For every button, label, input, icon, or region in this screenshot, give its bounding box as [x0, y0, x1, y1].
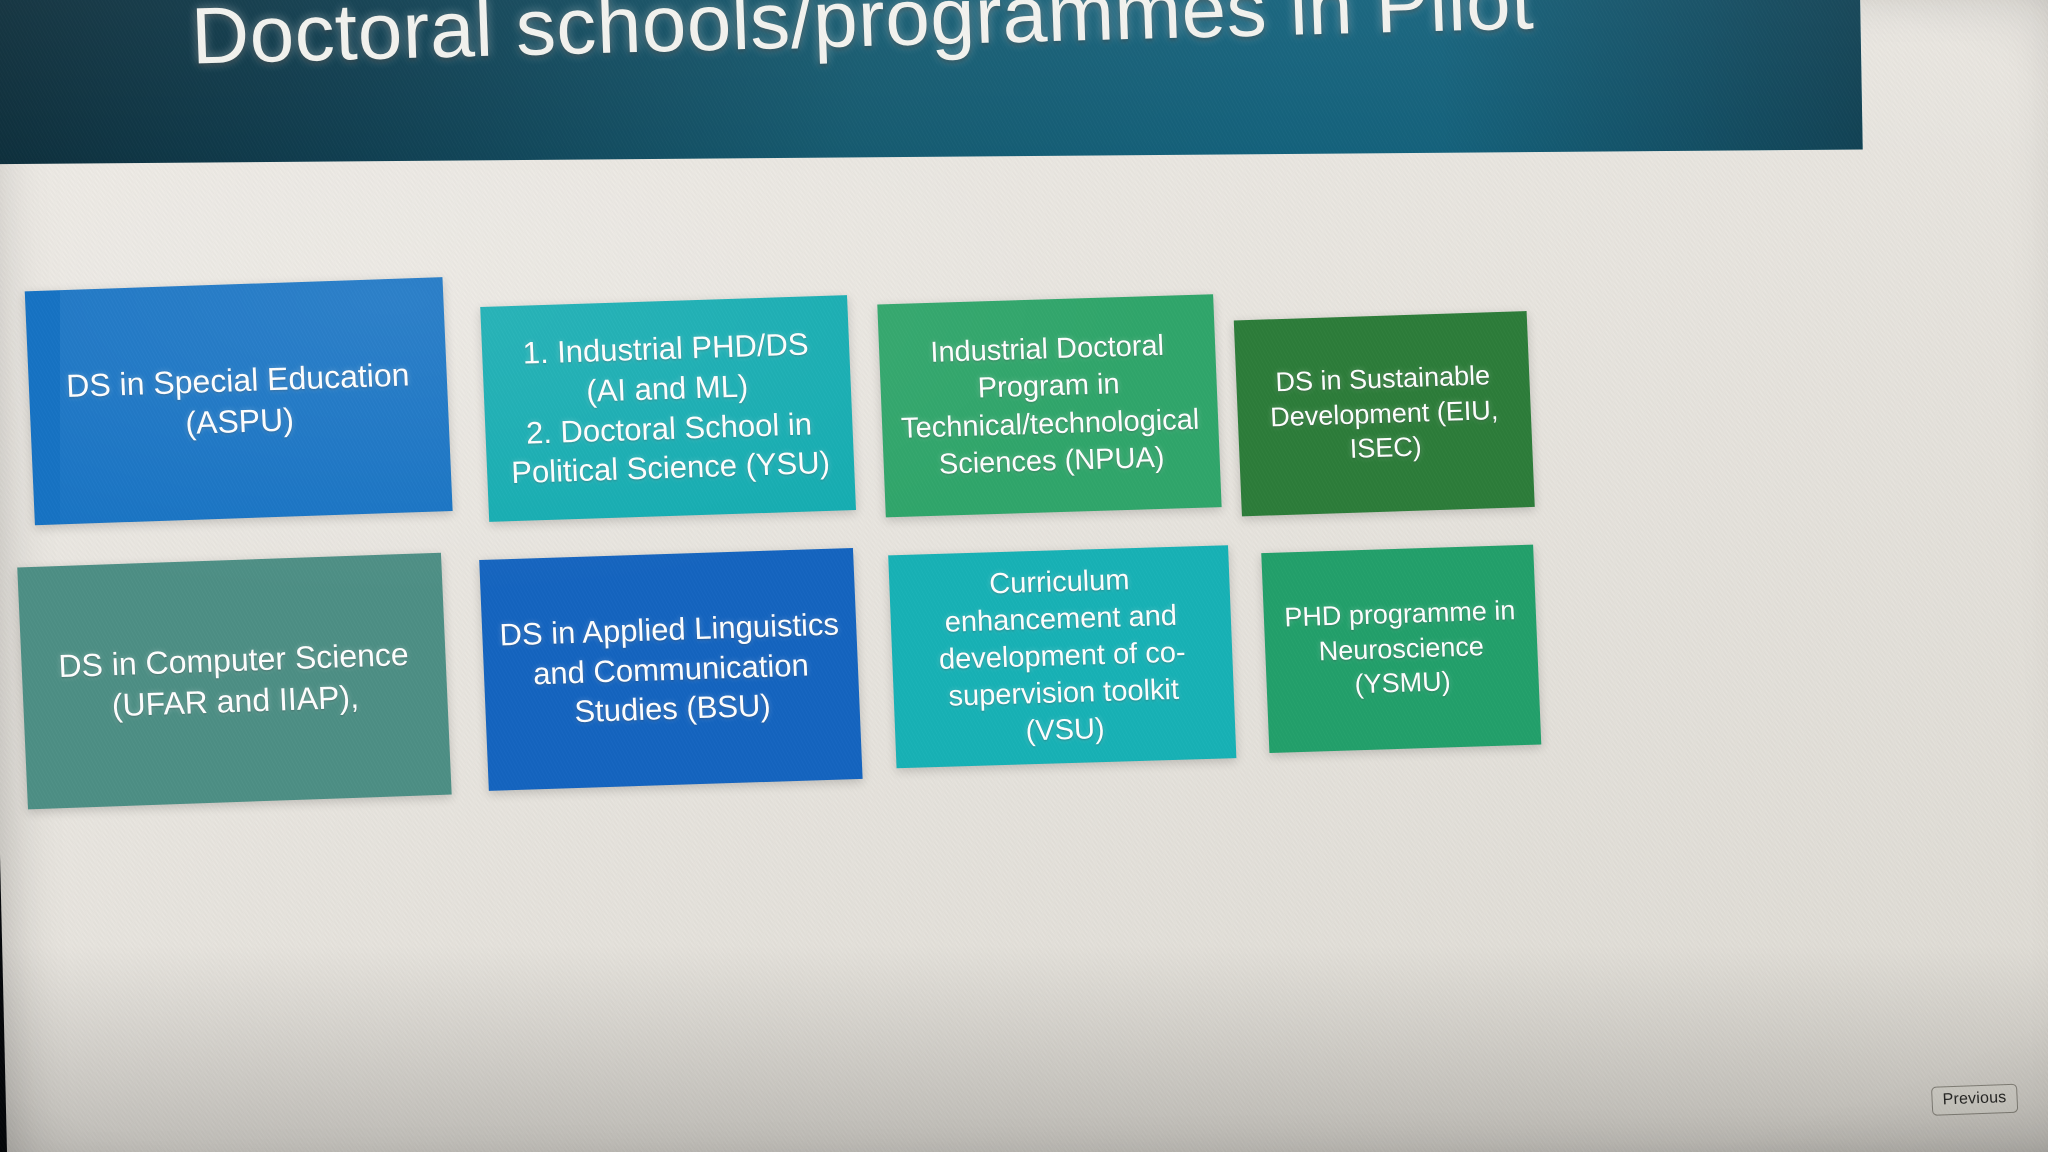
- programme-box-line: (VSU): [941, 709, 1189, 753]
- slide-canvas: Doctoral schools/programmes in Pilot DS …: [0, 0, 2048, 1152]
- programme-box-ds-computer-science[interactable]: DS in Computer Science (UFAR and IIAP),: [17, 553, 451, 810]
- programme-box-line: supervision toolkit: [940, 672, 1188, 716]
- programme-box-phd-neuroscience-ysmu[interactable]: PHD programme in Neuroscience (YSMU): [1261, 545, 1541, 753]
- programme-box-line: Neuroscience (YSMU): [1279, 628, 1526, 705]
- programme-box-ds-sustainable-development[interactable]: DS in Sustainable Development (EIU, ISEC…: [1234, 311, 1535, 516]
- programme-box-ds-applied-linguistics-bsu[interactable]: DS in Applied Linguistics and Communicat…: [479, 548, 862, 791]
- programme-box-grid: DS in Special Education (ASPU) 1. Indust…: [0, 0, 2048, 1152]
- programme-box-industrial-doctoral-npua[interactable]: Industrial Doctoral Program in Technical…: [877, 294, 1221, 517]
- photo-of-presentation-screen: Doctoral schools/programmes in Pilot DS …: [0, 0, 2048, 1152]
- screen-area: Doctoral schools/programmes in Pilot DS …: [0, 0, 2048, 1152]
- programme-box-ds-special-education[interactable]: DS in Special Education (ASPU): [25, 277, 453, 525]
- programme-box-industrial-phd-ds-ysu[interactable]: 1. Industrial PHD/DS (AI and ML) 2. Doct…: [480, 295, 856, 522]
- programme-box-curriculum-enhancement-vsu[interactable]: Curriculum enhancement and development o…: [888, 545, 1236, 768]
- programme-box-line: Development (EIU, ISEC): [1251, 392, 1519, 470]
- previous-button[interactable]: Previous: [1931, 1084, 2018, 1116]
